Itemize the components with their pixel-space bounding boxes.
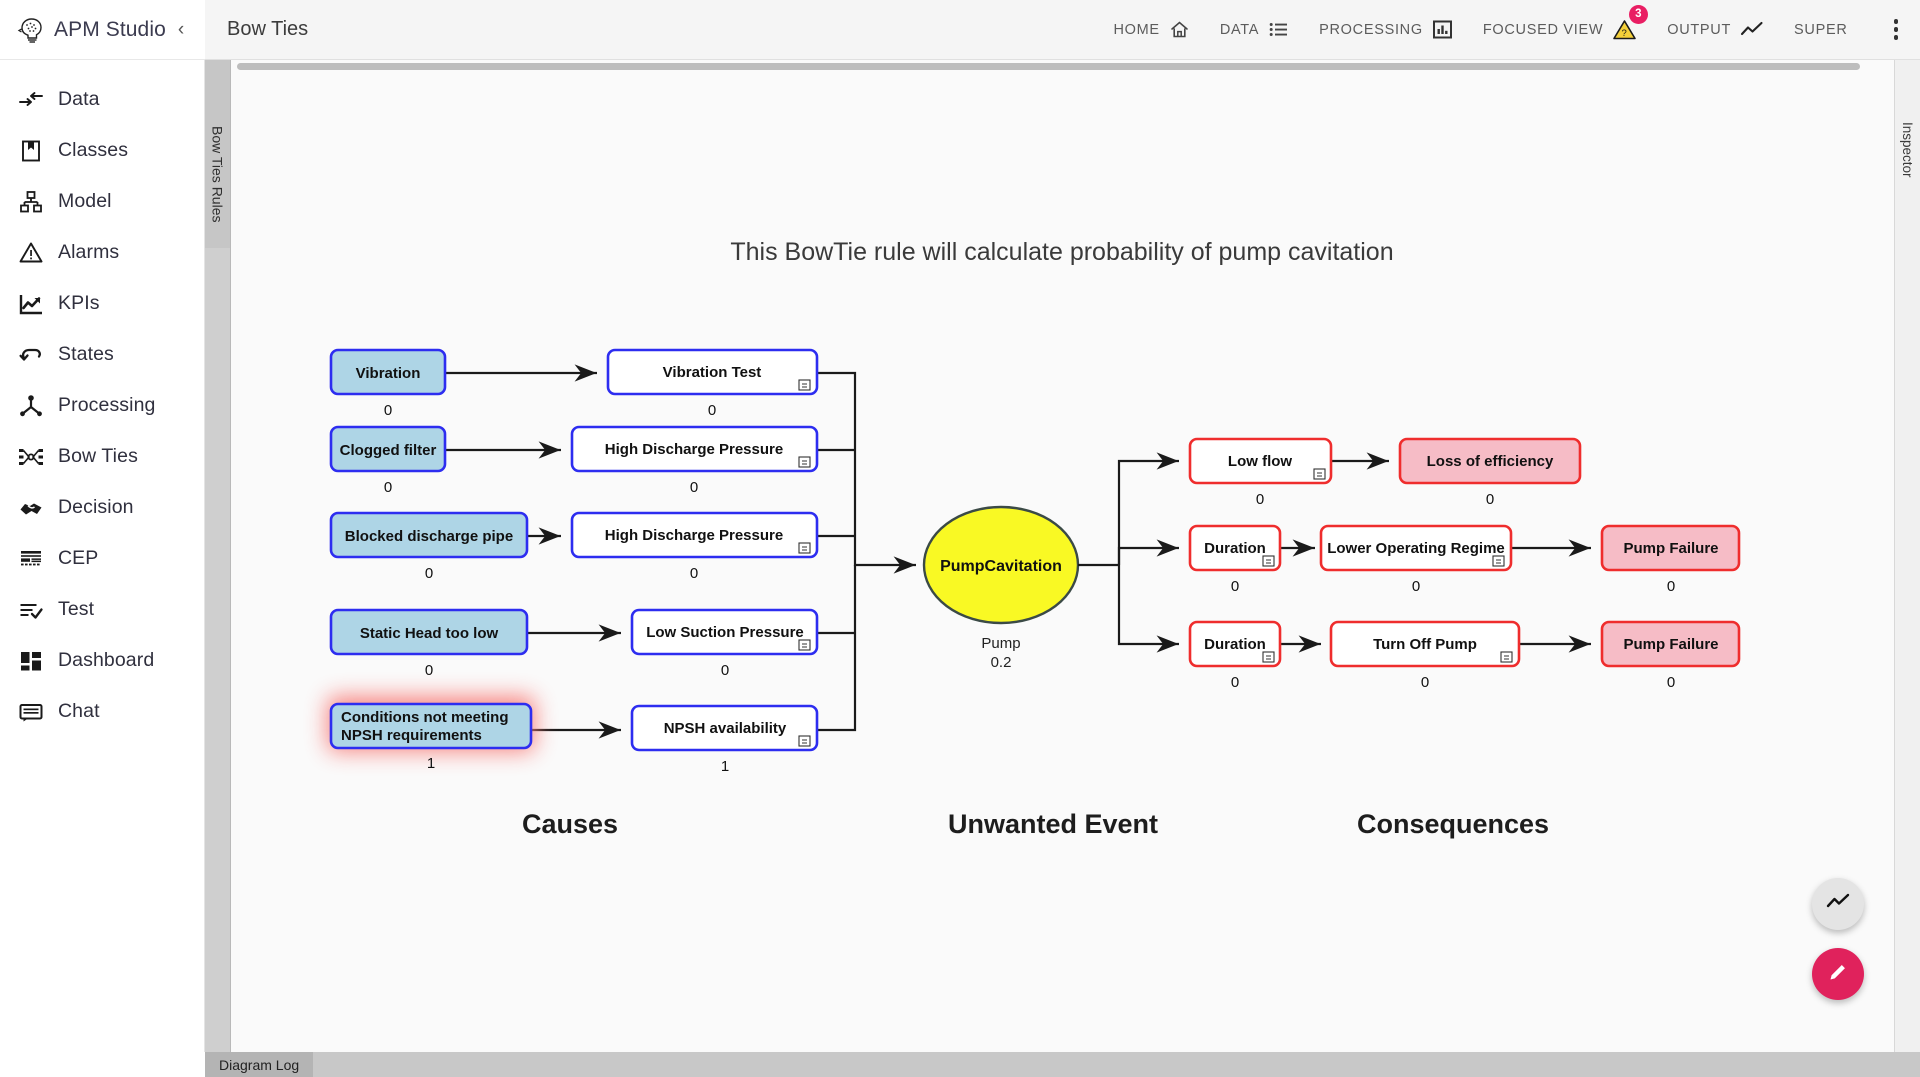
cons-barrier-count-2: 0 [1412, 578, 1420, 595]
cause-count-0: 0 [384, 402, 392, 419]
topnav-label-output: OUTPUT [1667, 22, 1731, 38]
diagram-title: This BowTie rule will calculate probabil… [730, 238, 1393, 266]
sidebar-item-processing[interactable]: Processing [0, 380, 204, 431]
consequence-barrier-duration-2[interactable]: Duration 0 [1190, 622, 1280, 691]
app-root: APM Studio ‹ Bow Ties HOME [0, 0, 1920, 1077]
sidebar-label-chat: Chat [58, 700, 100, 723]
cause-count-2: 0 [425, 565, 433, 582]
svg-text:?: ? [1622, 28, 1628, 39]
cons-barrier-count-4: 0 [1421, 674, 1429, 691]
topnav-item-data[interactable]: DATA [1220, 19, 1289, 40]
cause-label-3: Static Head too low [360, 625, 499, 642]
sidebar-item-data[interactable]: Data [0, 74, 204, 125]
consequence-count-0: 0 [1486, 491, 1494, 508]
sidebar-label-kpis: KPIs [58, 292, 100, 315]
sidebar: Data Classes [0, 60, 205, 1052]
cause-label-0: Vibration [356, 365, 421, 382]
cause-barrier-label-1: High Discharge Pressure [605, 441, 783, 458]
sidebar-collapse-button[interactable]: ‹ [178, 20, 184, 39]
inspector-label[interactable]: Inspector [1900, 122, 1915, 178]
sidebar-label-model: Model [58, 190, 112, 213]
sidebar-label-bow-ties: Bow Ties [58, 445, 138, 468]
dashboard-grid-icon [18, 648, 44, 674]
sidebar-item-dashboard[interactable]: Dashboard [0, 635, 204, 686]
event-label: PumpCavitation [940, 558, 1062, 575]
cause-barrier-count-1: 0 [690, 479, 698, 496]
consequence-barrier-low-flow[interactable]: Low flow 0 [1190, 439, 1331, 508]
sidebar-item-states[interactable]: States [0, 329, 204, 380]
cons-barrier-label-4: Turn Off Pump [1373, 636, 1477, 653]
cons-barrier-label-1: Duration [1204, 540, 1266, 557]
cause-barrier-high-discharge-pressure-2[interactable]: High Discharge Pressure 0 [572, 513, 817, 582]
cause-barrier-count-0: 0 [708, 402, 716, 419]
brand-area[interactable]: APM Studio ‹ [0, 0, 205, 60]
cause-barrier-count-3: 0 [721, 662, 729, 679]
consequence-count-2: 0 [1667, 674, 1675, 691]
top-bar-main: Bow Ties HOME DATA [205, 0, 1920, 60]
focused-view-badge: 3 [1629, 5, 1648, 24]
event-sub-line2: 0.2 [991, 654, 1012, 671]
topnav-item-home[interactable]: HOME [1114, 19, 1190, 40]
brand-name: APM Studio [54, 18, 166, 42]
cause-node-static-head-too-low[interactable]: Static Head too low 0 [331, 610, 527, 679]
sidebar-item-chat[interactable]: Chat [0, 686, 204, 737]
sidebar-item-alarms[interactable]: Alarms [0, 227, 204, 278]
hierarchy-icon [18, 189, 44, 215]
consequence-node-pump-failure-1[interactable]: Pump Failure 0 [1602, 526, 1739, 595]
pencil-icon [1826, 960, 1850, 989]
cause-count-1: 0 [384, 479, 392, 496]
cause-node-clogged-filter[interactable]: Clogged filter 0 [331, 427, 445, 496]
book-icon [18, 138, 44, 164]
cause-node-blocked-discharge-pipe[interactable]: Blocked discharge pipe 0 [331, 513, 527, 582]
trend-line-icon [1825, 891, 1851, 918]
handshake-icon [18, 495, 44, 521]
cons-barrier-count-3: 0 [1231, 674, 1239, 691]
sidebar-label-decision: Decision [58, 496, 134, 519]
footer-spacer [0, 1052, 205, 1077]
sidebar-label-data: Data [58, 88, 100, 111]
edit-fab[interactable] [1812, 948, 1864, 1000]
topnav-label-data: DATA [1220, 22, 1259, 38]
consequence-barrier-duration-1[interactable]: Duration 0 [1190, 526, 1280, 595]
topnav-item-output[interactable]: OUTPUT [1667, 19, 1764, 40]
cause-label-4-line2: NPSH requirements [341, 727, 482, 744]
bow-ties-rules-rail[interactable]: Bow Ties Rules [205, 60, 231, 1052]
trend-line-icon [1740, 19, 1764, 40]
cons-barrier-count-1: 0 [1231, 578, 1239, 595]
kebab-menu-icon[interactable] [1890, 15, 1903, 44]
section-label-unwanted-event: Unwanted Event [948, 809, 1158, 839]
rail-tab-label[interactable]: Bow Ties Rules [210, 72, 226, 222]
cause-barrier-label-4: NPSH availability [664, 720, 787, 737]
data-arrows-icon [18, 87, 44, 113]
diagram-log-tab[interactable]: Diagram Log [205, 1052, 313, 1077]
cause-count-4: 1 [427, 755, 435, 772]
topnav-item-processing[interactable]: PROCESSING [1319, 19, 1453, 40]
consequence-label-2: Pump Failure [1623, 636, 1718, 653]
sidebar-item-decision[interactable]: Decision [0, 482, 204, 533]
brain-head-icon [16, 15, 46, 45]
sidebar-label-classes: Classes [58, 139, 128, 162]
footer-bar: Diagram Log [0, 1052, 1920, 1077]
cause-barrier-high-discharge-pressure-1[interactable]: High Discharge Pressure 0 [572, 427, 817, 496]
section-label-consequences: Consequences [1357, 809, 1549, 839]
consequence-barrier-lower-operating-regime[interactable]: Lower Operating Regime 0 [1321, 526, 1511, 595]
sidebar-item-test[interactable]: Test [0, 584, 204, 635]
cause-barrier-label-3: Low Suction Pressure [646, 624, 804, 641]
chart-trend-icon [18, 291, 44, 317]
sidebar-item-bow-ties[interactable]: Bow Ties [0, 431, 204, 482]
sidebar-label-states: States [58, 343, 114, 366]
cause-label-2: Blocked discharge pipe [345, 528, 513, 545]
consequence-node-pump-failure-2[interactable]: Pump Failure 0 [1602, 622, 1739, 691]
list-icon [1268, 19, 1289, 40]
cause-label-4-line1: Conditions not meeting [341, 709, 508, 726]
topnav-item-focused-view[interactable]: FOCUSED VIEW ? 3 [1483, 18, 1637, 41]
consequence-barrier-turn-off-pump[interactable]: Turn Off Pump 0 [1331, 622, 1519, 691]
sidebar-label-alarms: Alarms [58, 241, 119, 264]
state-loop-icon [18, 342, 44, 368]
topnav-label-processing: PROCESSING [1319, 22, 1423, 38]
sidebar-item-classes[interactable]: Classes [0, 125, 204, 176]
body-row: Data Classes [0, 60, 1920, 1052]
topnav-label-super: SUPER [1794, 22, 1847, 38]
unwanted-event-node[interactable]: PumpCavitation Pump 0.2 [924, 507, 1078, 671]
sidebar-item-model[interactable]: Model [0, 176, 204, 227]
process-node-icon [18, 393, 44, 419]
cause-barrier-label-2: High Discharge Pressure [605, 527, 783, 544]
section-label-causes: Causes [522, 809, 618, 839]
stream-lines-icon [18, 546, 44, 572]
analytics-fab[interactable] [1812, 878, 1864, 930]
list-check-icon [18, 597, 44, 623]
top-bar: APM Studio ‹ Bow Ties HOME [0, 0, 1920, 60]
cause-count-3: 0 [425, 662, 433, 679]
cause-label-1: Clogged filter [340, 442, 437, 459]
cause-node-vibration[interactable]: Vibration 0 [331, 350, 445, 419]
inspector-rail[interactable]: Inspector [1894, 60, 1920, 1052]
cause-barrier-count-4: 1 [721, 758, 729, 775]
cause-barrier-npsh-availability[interactable]: NPSH availability 1 [632, 706, 817, 775]
sidebar-label-dashboard: Dashboard [58, 649, 154, 672]
event-sub-line1: Pump [981, 635, 1020, 652]
cons-barrier-label-0: Low flow [1228, 453, 1292, 470]
sidebar-label-cep: CEP [58, 547, 98, 570]
topnav-item-super[interactable]: SUPER [1794, 22, 1847, 38]
topnav-label-focused-view: FOCUSED VIEW [1483, 22, 1603, 38]
sidebar-label-processing: Processing [58, 394, 155, 417]
page-title: Bow Ties [227, 18, 308, 41]
cons-barrier-label-2: Lower Operating Regime [1327, 540, 1505, 557]
consequence-label-0: Loss of efficiency [1427, 453, 1554, 470]
bowtie-diagram[interactable]: This BowTie rule will calculate probabil… [231, 60, 1894, 1052]
topnav-label-home: HOME [1114, 22, 1160, 38]
top-nav: HOME DATA [1114, 15, 1903, 44]
sidebar-item-cep[interactable]: CEP [0, 533, 204, 584]
diagram-canvas[interactable]: This BowTie rule will calculate probabil… [231, 60, 1894, 1052]
chat-bubble-icon [18, 699, 44, 725]
sidebar-label-test: Test [58, 598, 94, 621]
warning-triangle-icon [18, 240, 44, 266]
cause-barrier-low-suction-pressure[interactable]: Low Suction Pressure 0 [632, 610, 817, 679]
home-icon [1169, 19, 1190, 40]
sidebar-item-kpis[interactable]: KPIs [0, 278, 204, 329]
cons-barrier-count-0: 0 [1256, 491, 1264, 508]
cons-barrier-label-3: Duration [1204, 636, 1266, 653]
consequence-node-loss-of-efficiency[interactable]: Loss of efficiency 0 [1400, 439, 1580, 508]
bar-chart-icon [1432, 19, 1453, 40]
cause-barrier-vibration-test[interactable]: Vibration Test 0 [608, 350, 817, 419]
consequence-label-1: Pump Failure [1623, 540, 1718, 557]
consequence-count-1: 0 [1667, 578, 1675, 595]
bowtie-icon [18, 444, 44, 470]
cause-barrier-label-0: Vibration Test [663, 364, 762, 381]
cause-barrier-count-2: 0 [690, 565, 698, 582]
cause-node-npsh-conditions[interactable]: Conditions not meeting NPSH requirements… [327, 696, 535, 772]
